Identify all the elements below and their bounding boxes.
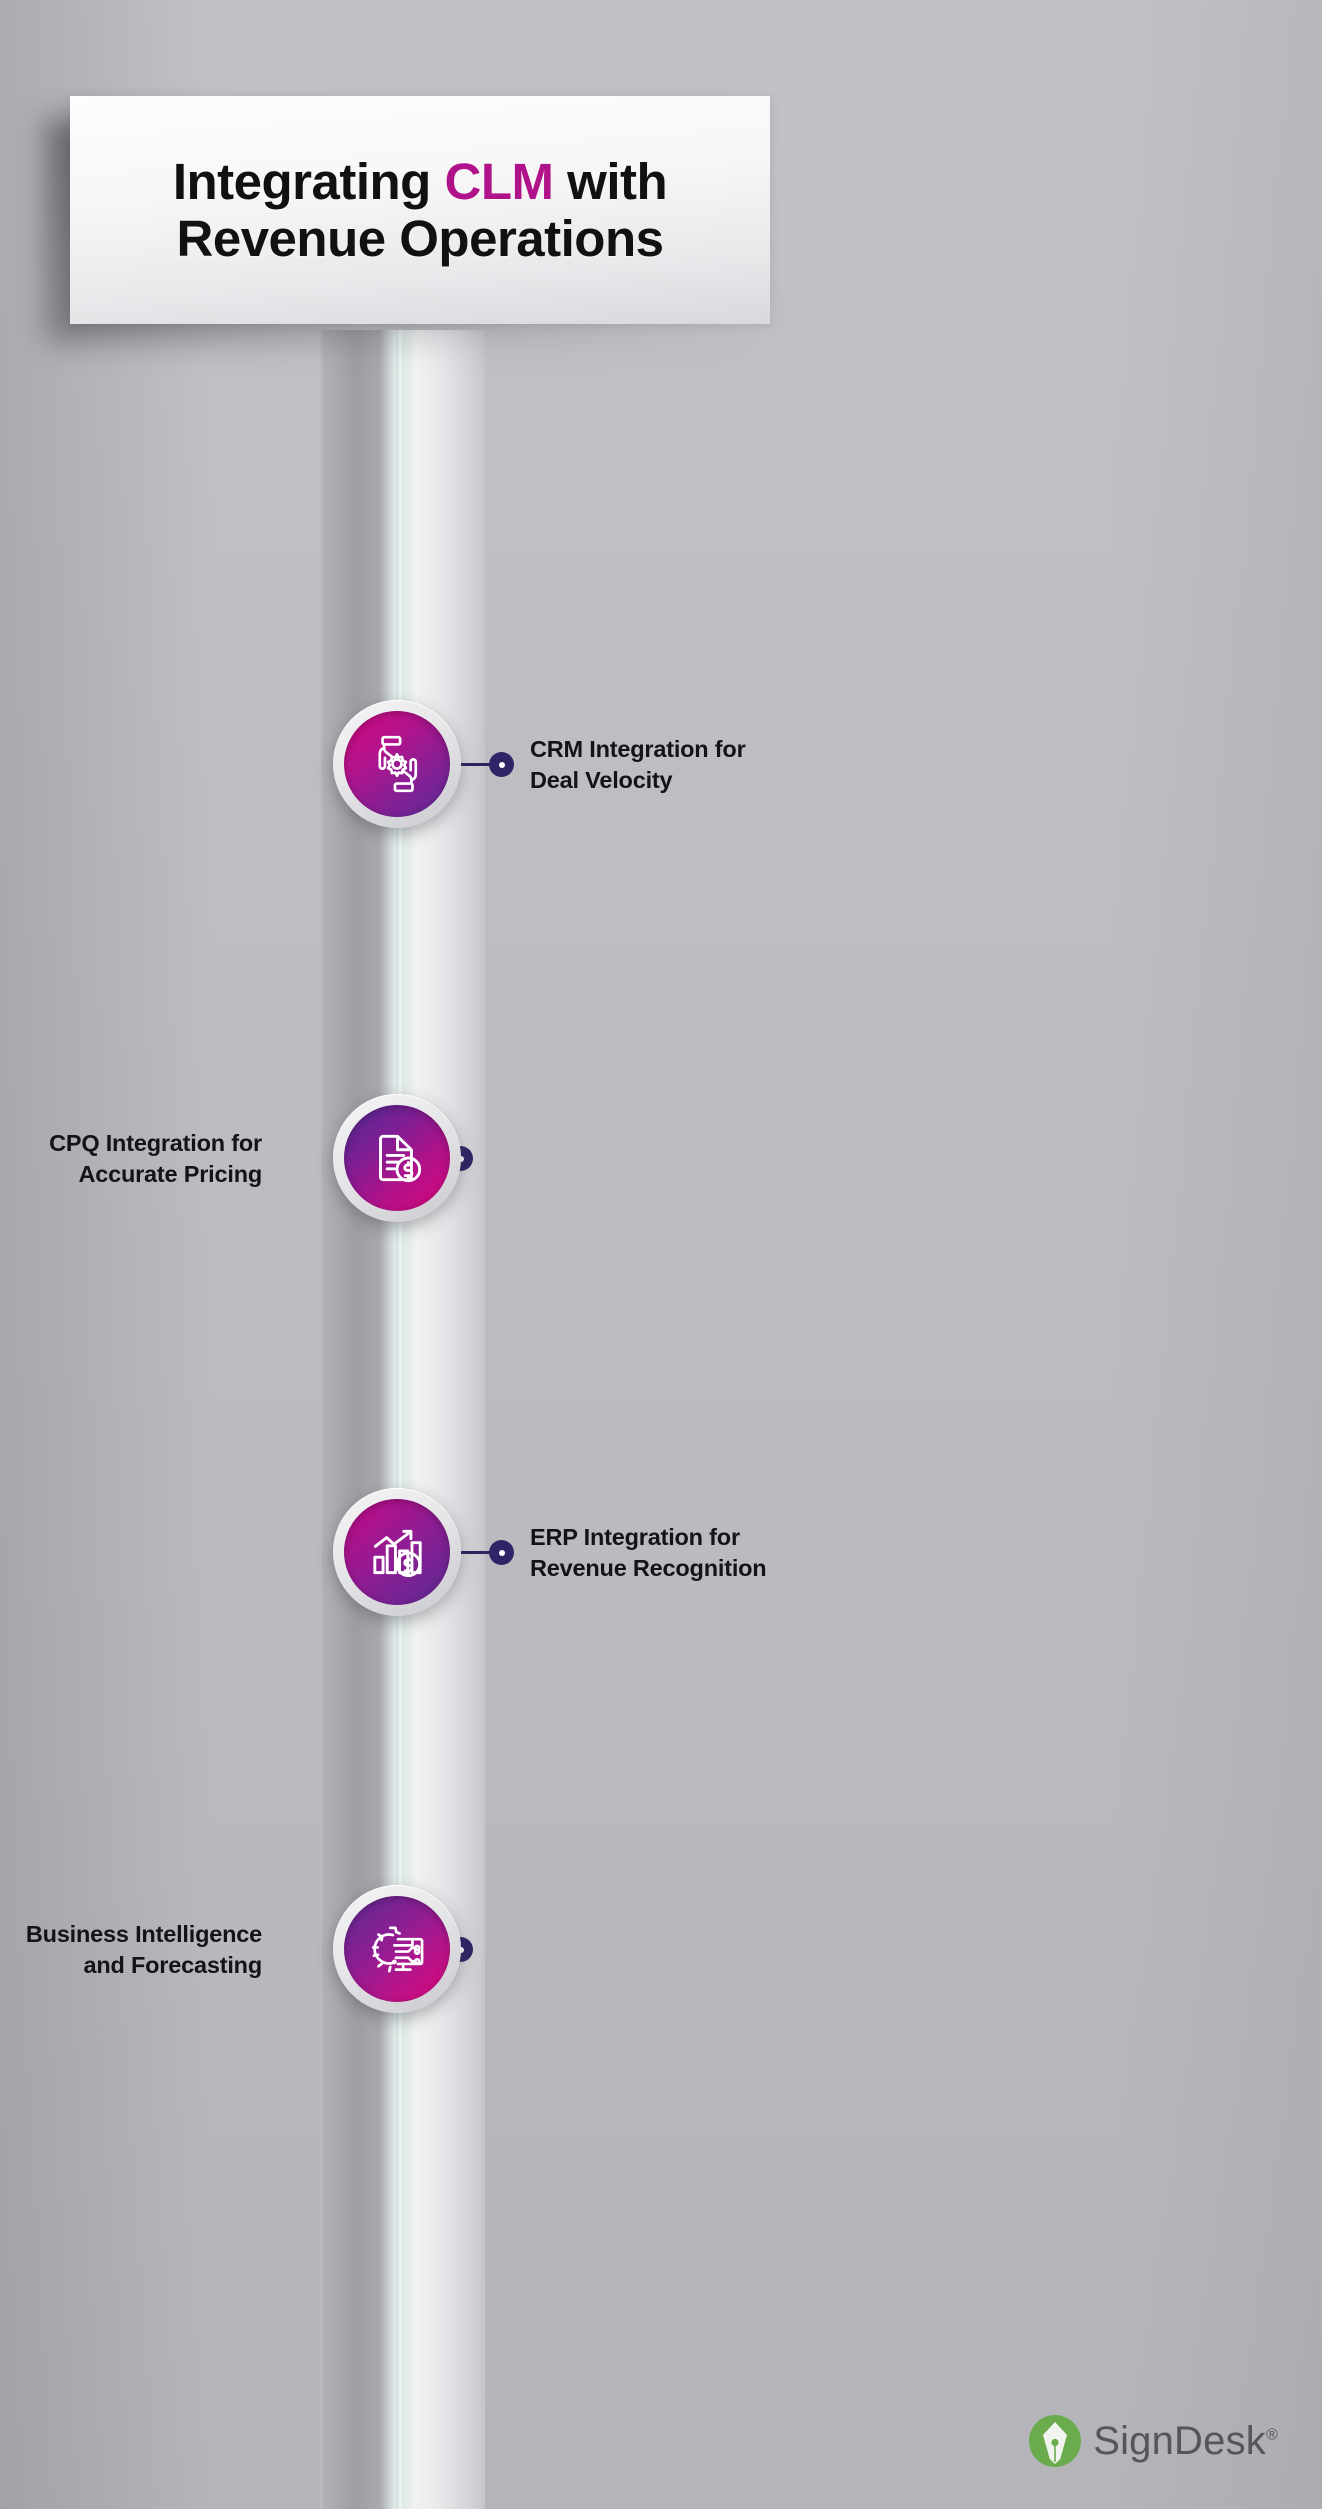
signdesk-wordmark: SignDesk® <box>1093 2419 1278 2464</box>
pen-nib-icon <box>1029 2415 1081 2467</box>
timeline-label-erp: ERP Integration for Revenue Recognition <box>530 1522 960 1584</box>
gear-circuit-monitor-icon <box>364 1916 430 1982</box>
node-circle-cpq[interactable] <box>333 1094 461 1222</box>
page-title: Integrating CLM with Revenue Operations <box>145 153 695 267</box>
timeline-item-cpq-integration[interactable]: CPQ Integration for Accurate Pricing <box>0 1094 1322 1324</box>
registered-trademark-symbol: ® <box>1266 2426 1278 2443</box>
label-line-1: CRM Integration for <box>530 736 746 762</box>
connector-dot <box>489 752 514 777</box>
label-line-2: Revenue Recognition <box>530 1555 766 1581</box>
label-line-2: and Forecasting <box>83 1952 262 1978</box>
label-line-1: CPQ Integration for <box>49 1130 262 1156</box>
signdesk-logo[interactable]: SignDesk® <box>1029 2415 1278 2467</box>
bar-chart-growth-dollar-icon <box>364 1519 430 1585</box>
timeline-label-crm: CRM Integration for Deal Velocity <box>530 734 960 796</box>
node-circle-erp[interactable] <box>333 1488 461 1616</box>
timeline-item-erp-integration[interactable]: ERP Integration for Revenue Recognition <box>0 1488 1322 1718</box>
title-accent-clm: CLM <box>445 153 554 210</box>
timeline-label-bi: Business Intelligence and Forecasting <box>0 1919 262 1981</box>
timeline-label-cpq: CPQ Integration for Accurate Pricing <box>0 1128 262 1190</box>
connector-dot <box>489 1540 514 1565</box>
timeline-item-business-intelligence[interactable]: Business Intelligence and Forecasting <box>0 1885 1322 2115</box>
label-line-1: ERP Integration for <box>530 1524 740 1550</box>
node-circle-bi[interactable] <box>333 1885 461 2013</box>
title-line1-pre: Integrating <box>173 153 445 210</box>
document-dollar-icon <box>364 1125 430 1191</box>
label-line-2: Deal Velocity <box>530 767 672 793</box>
title-card: Integrating CLM with Revenue Operations <box>70 96 770 324</box>
timeline-item-crm-integration[interactable]: CRM Integration for Deal Velocity <box>0 700 1322 930</box>
node-circle-crm[interactable] <box>333 700 461 828</box>
brand-name: SignDesk <box>1093 2419 1266 2463</box>
timeline-spine-highlight <box>396 330 405 2509</box>
label-line-1: Business Intelligence <box>26 1921 262 1947</box>
hands-holding-gear-icon <box>364 731 430 797</box>
label-line-2: Accurate Pricing <box>78 1161 262 1187</box>
title-line2: Revenue Operations <box>177 210 664 267</box>
title-line1-post: with <box>553 153 667 210</box>
